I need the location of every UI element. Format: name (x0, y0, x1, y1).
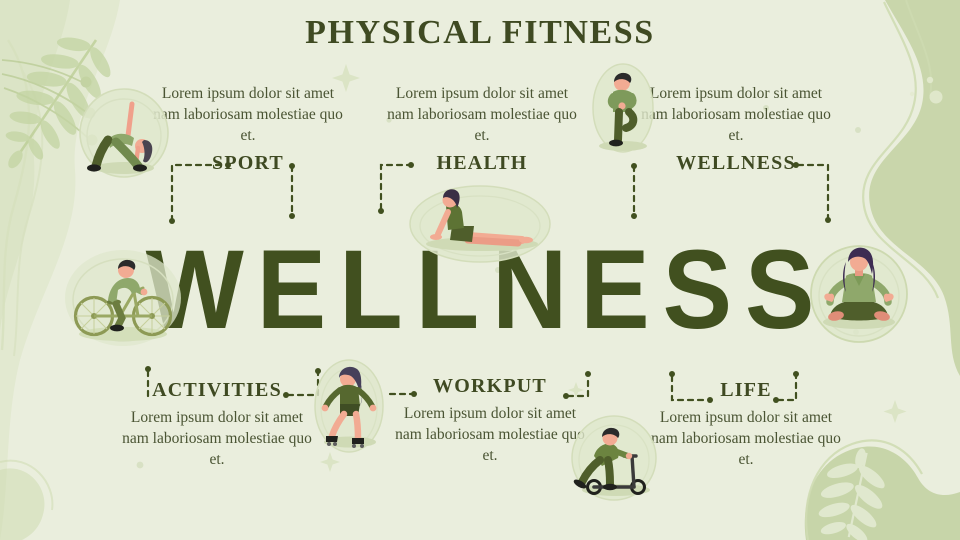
cyclist-icon (65, 250, 181, 346)
feature-life[interactable]: LIFE Lorem ipsum dolor sit amet nam labo… (646, 379, 846, 470)
feature-health-body: Lorem ipsum dolor sit amet nam laboriosa… (382, 83, 582, 146)
lotus-meditation-icon (811, 246, 907, 342)
feature-workput-body: Lorem ipsum dolor sit amet nam laboriosa… (390, 403, 590, 466)
feature-health-label: HEALTH (382, 152, 582, 175)
feature-wellness-label: WELLNESS (636, 152, 836, 175)
feature-health[interactable]: Lorem ipsum dolor sit amet nam laboriosa… (382, 83, 582, 175)
feature-workput-label: WORKPUT (390, 375, 590, 398)
illustration-scooter-rider (566, 412, 662, 506)
feature-sport[interactable]: Lorem ipsum dolor sit amet nam laboriosa… (148, 83, 348, 175)
cobra-yoga-pose-icon (410, 186, 550, 262)
slide-canvas: PHYSICAL FITNESS (0, 0, 960, 540)
illustration-cobra-yoga-pose (402, 182, 558, 266)
feature-workput[interactable]: WORKPUT Lorem ipsum dolor sit amet nam l… (390, 375, 590, 466)
feature-activities-body: Lorem ipsum dolor sit amet nam laboriosa… (117, 407, 317, 470)
illustration-stretch-triangle-pose (72, 84, 176, 182)
stretch-triangle-pose-icon (80, 89, 168, 177)
feature-wellness[interactable]: Lorem ipsum dolor sit amet nam laboriosa… (636, 83, 836, 175)
illustration-lotus-meditation (804, 242, 914, 346)
feature-sport-label: SPORT (148, 152, 348, 175)
feature-life-label: LIFE (646, 379, 846, 402)
feature-life-body: Lorem ipsum dolor sit amet nam laboriosa… (646, 407, 846, 470)
feature-wellness-body: Lorem ipsum dolor sit amet nam laboriosa… (636, 83, 836, 146)
page-title: PHYSICAL FITNESS (0, 14, 960, 52)
illustration-roller-skater (306, 356, 392, 456)
feature-activities[interactable]: ACTIVITIES Lorem ipsum dolor sit amet na… (117, 379, 317, 470)
scooter-rider-icon (572, 416, 656, 500)
standing-balance-pose-icon (593, 64, 653, 152)
feature-activities-label: ACTIVITIES (117, 379, 317, 402)
feature-sport-body: Lorem ipsum dolor sit amet nam laboriosa… (148, 83, 348, 146)
illustration-cyclist (60, 242, 186, 348)
illustration-standing-balance-pose (582, 60, 664, 158)
roller-skater-icon (315, 360, 383, 452)
